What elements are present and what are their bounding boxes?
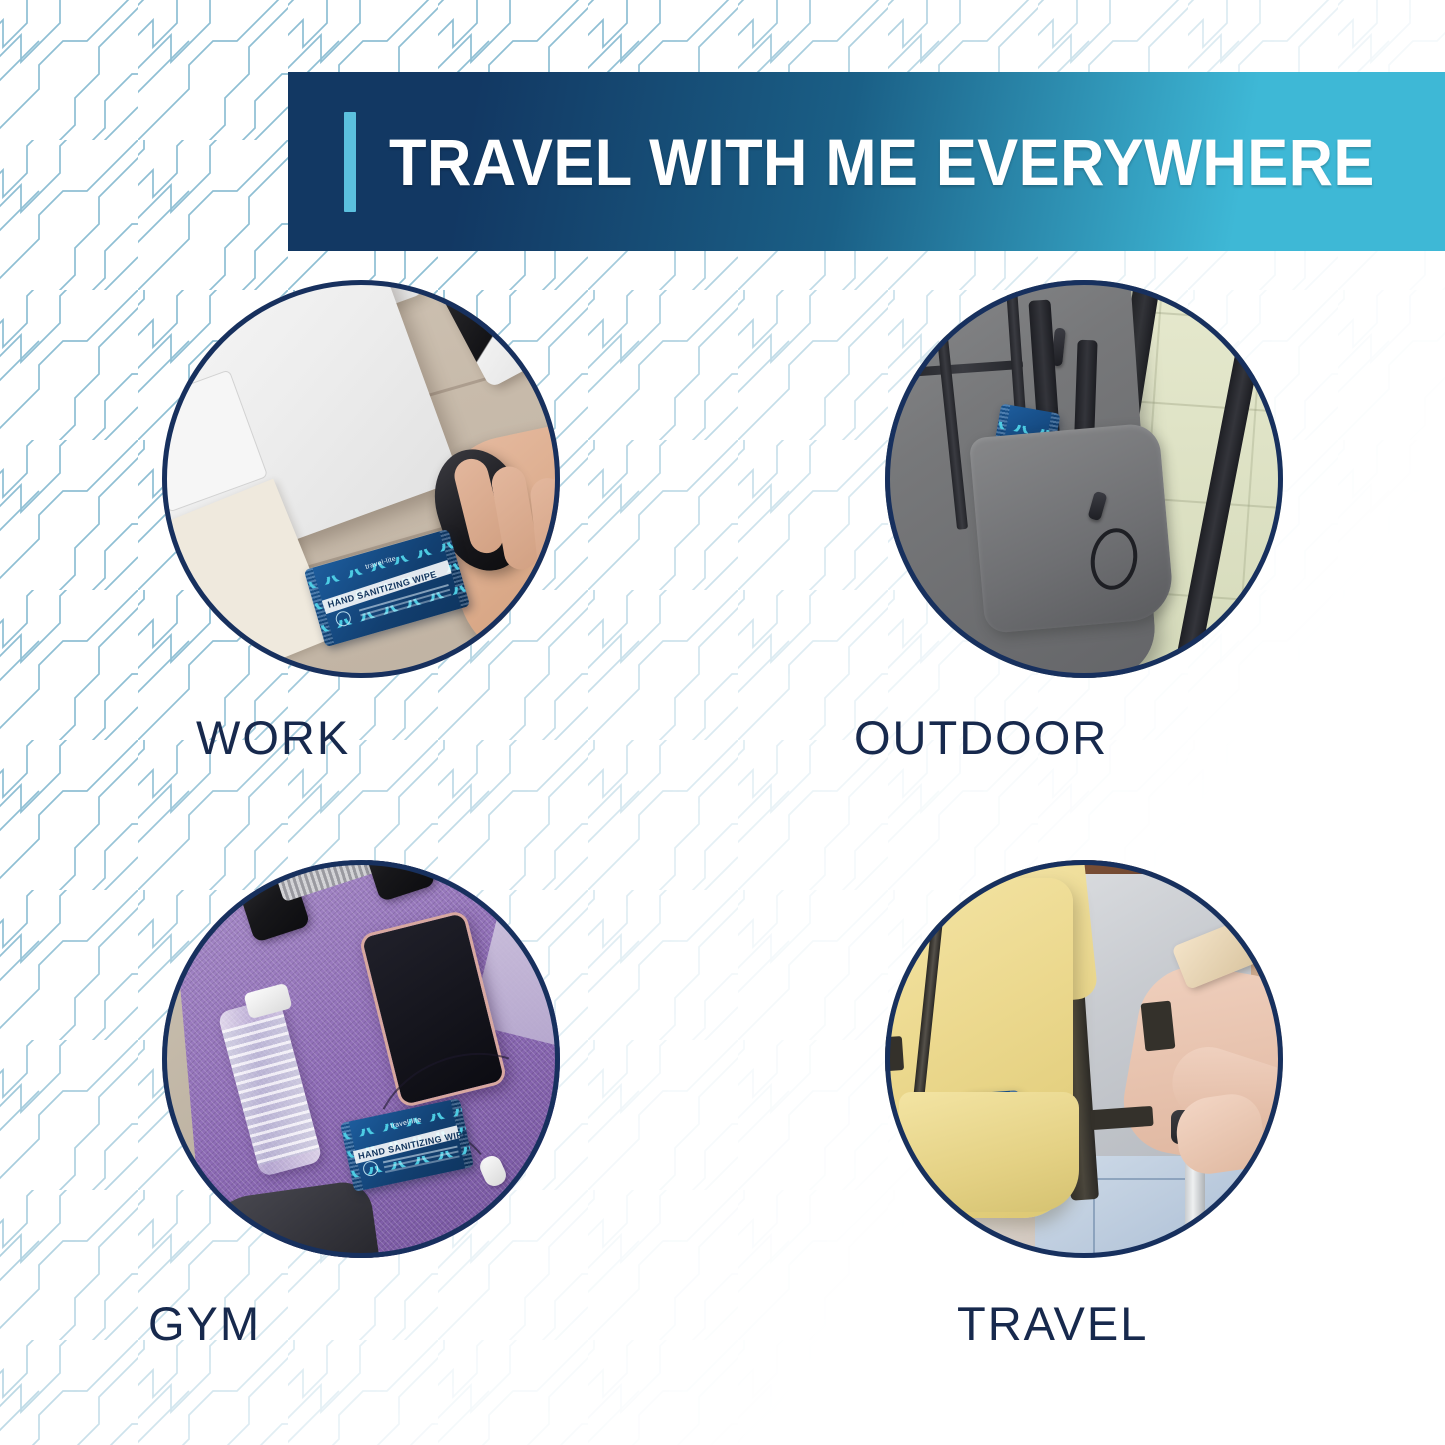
gym-photo: travel-lite HAND SANITIZING WIPE bbox=[162, 860, 560, 1258]
use-case-label-work: WORK bbox=[196, 710, 350, 765]
product-brand: travel-lite bbox=[365, 556, 397, 571]
infographic-root: TRAVEL WITH ME EVERYWHERE bbox=[0, 0, 1445, 1445]
use-case-label-outdoor: OUTDOOR bbox=[854, 710, 1108, 765]
outdoor-scene bbox=[885, 280, 1283, 678]
use-case-label-travel: TRAVEL bbox=[957, 1296, 1148, 1351]
use-case-cell-gym: travel-lite HAND SANITIZING WIPE GYM bbox=[0, 838, 722, 1432]
work-photo: travel-lite HAND SANITIZING WIPE bbox=[162, 280, 560, 678]
phone-device bbox=[434, 280, 556, 388]
use-case-cell-outdoor: OUTDOOR bbox=[723, 258, 1445, 852]
wipe-packet: travel-lite HAND SANITIZING WIPE bbox=[304, 529, 470, 647]
use-case-cell-work: travel-lite HAND SANITIZING WIPE WORK bbox=[0, 258, 722, 852]
use-case-cell-travel: TRAVEL bbox=[723, 838, 1445, 1432]
outdoor-photo bbox=[885, 280, 1283, 678]
accent-bar bbox=[344, 112, 356, 212]
use-case-label-gym: GYM bbox=[148, 1296, 261, 1351]
backpack-side-pocket bbox=[969, 422, 1175, 634]
denim-pocket bbox=[1093, 1178, 1189, 1258]
page-title: TRAVEL WITH ME EVERYWHERE bbox=[389, 124, 1375, 200]
travel-photo bbox=[885, 860, 1283, 1258]
header-banner: TRAVEL WITH ME EVERYWHERE bbox=[288, 72, 1445, 251]
travel-scene bbox=[885, 860, 1283, 1258]
use-case-grid: travel-lite HAND SANITIZING WIPE WORK bbox=[0, 258, 1445, 1445]
product-brand: travel-lite bbox=[390, 1116, 422, 1129]
work-scene: travel-lite HAND SANITIZING WIPE bbox=[162, 280, 560, 678]
backpack-side-pocket bbox=[899, 1092, 1079, 1212]
gym-scene: travel-lite HAND SANITIZING WIPE bbox=[162, 860, 560, 1258]
